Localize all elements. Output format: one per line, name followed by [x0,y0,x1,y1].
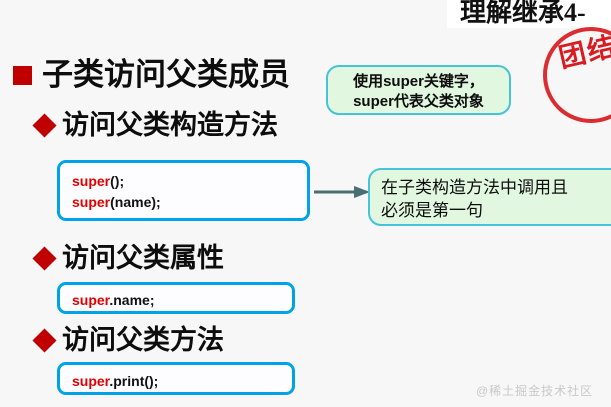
code-keyword: super [72,173,110,189]
main-heading-label: 子类访问父类成员 [42,58,290,92]
section-heading-constructor: 访问父类构造方法 [36,110,278,140]
code-keyword: super [72,194,110,210]
square-bullet-icon [13,66,32,85]
code-line: super.name; [72,290,292,311]
watermark: @稀土掘金技术社区 [476,382,593,399]
code-keyword: super [72,292,109,308]
section-heading-label: 访问父类构造方法 [62,110,278,140]
section-heading-attribute: 访问父类属性 [36,243,224,273]
callout-line: super代表父类对象 [328,92,509,112]
diamond-bullet-icon [32,113,56,137]
diamond-bullet-icon [32,246,56,270]
main-heading: 子类访问父类成员 [13,58,290,92]
code-keyword: super [72,373,109,389]
page-title: 理解继承4- [460,0,586,28]
callout-line: 在子类构造方法中调用且 [381,176,611,199]
code-rest: .print(); [109,373,158,389]
code-line: super(); [72,171,307,192]
callout-first-statement: 在子类构造方法中调用且 必须是第一句 [368,168,611,226]
code-rest: (); [110,173,124,189]
section-heading-label: 访问父类方法 [62,325,224,355]
code-rest: (name); [110,194,161,210]
code-rest: .name; [109,292,154,308]
callout-line: 必须是第一句 [381,199,611,222]
arrow-right-icon [314,185,370,199]
section-heading-method: 访问父类方法 [36,325,224,355]
code-line: super.print(); [72,371,292,392]
callout-line: 使用super关键字， [328,72,509,92]
code-block-attribute: super.name; [57,282,295,314]
diamond-bullet-icon [32,328,56,352]
code-line: super(name); [72,192,307,213]
slide-canvas: 理解继承4- 团结 子类访问父类成员 访问父类构造方法 super(); sup… [0,0,611,407]
callout-super-keyword: 使用super关键字， super代表父类对象 [326,65,511,115]
code-block-constructor: super(); super(name); [57,160,310,221]
section-heading-label: 访问父类属性 [62,243,224,273]
code-block-method: super.print(); [57,362,295,395]
